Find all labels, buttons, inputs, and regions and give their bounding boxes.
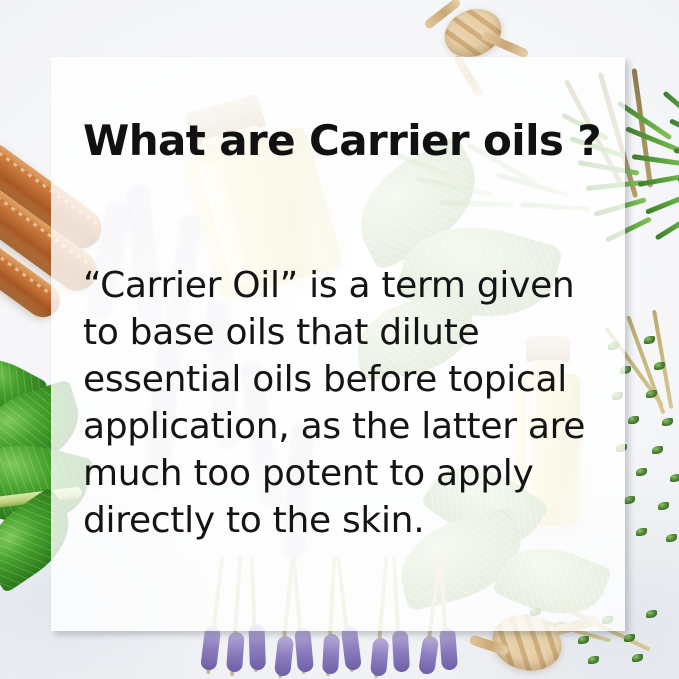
page-title: What are Carrier oils ? [83,119,603,163]
body-line: directly to the skin. [83,497,613,544]
body-line: to base oils that dilute [83,309,613,356]
content-card: What are Carrier oils ? “Carrier Oil” is… [51,57,625,631]
body-paragraph: “Carrier Oil” is a term given to base oi… [83,262,613,544]
body-line: application, as the latter are [83,403,613,450]
card-content: What are Carrier oils ? “Carrier Oil” is… [51,57,625,631]
body-line: much too potent to apply [83,450,613,497]
body-line: essential oils before topical [83,356,613,403]
body-line: “Carrier Oil” is a term given [83,262,613,309]
infographic-canvas: What are Carrier oils ? “Carrier Oil” is… [0,0,679,679]
